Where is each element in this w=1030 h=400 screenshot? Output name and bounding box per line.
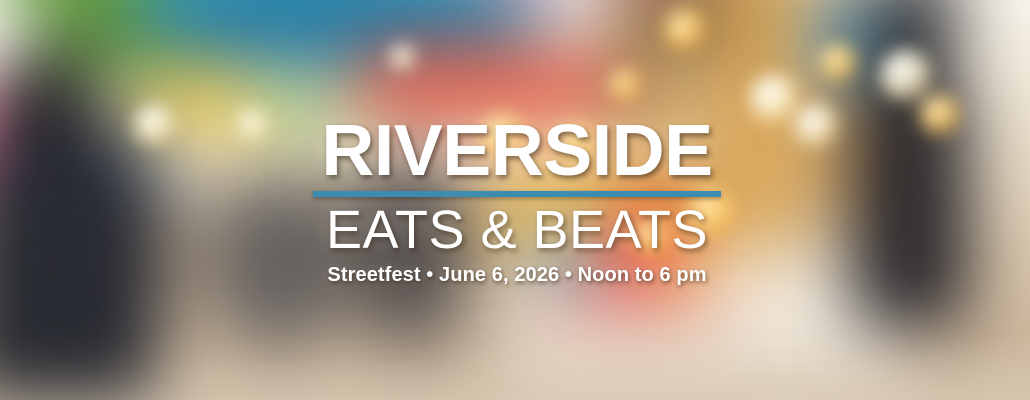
bokeh-light <box>820 45 856 81</box>
bokeh-light <box>750 75 798 123</box>
bokeh-light <box>610 70 640 100</box>
bokeh-light <box>920 95 960 135</box>
bokeh-light <box>238 110 268 140</box>
bokeh-light <box>880 50 932 102</box>
event-banner: RIVERSIDE EATS & BEATS Streetfest • June… <box>0 0 1030 400</box>
page-title: RIVERSIDE <box>309 118 725 184</box>
title-lockup: RIVERSIDE EATS & BEATS Streetfest • June… <box>313 118 721 287</box>
title-divider-rule <box>313 191 721 197</box>
bokeh-light <box>665 10 705 50</box>
bokeh-light <box>135 105 175 145</box>
bokeh-light <box>795 105 837 147</box>
bokeh-light <box>390 45 416 71</box>
event-details: Streetfest • June 6, 2026 • Noon to 6 pm <box>313 264 721 287</box>
subtitle: EATS & BEATS <box>313 203 721 257</box>
